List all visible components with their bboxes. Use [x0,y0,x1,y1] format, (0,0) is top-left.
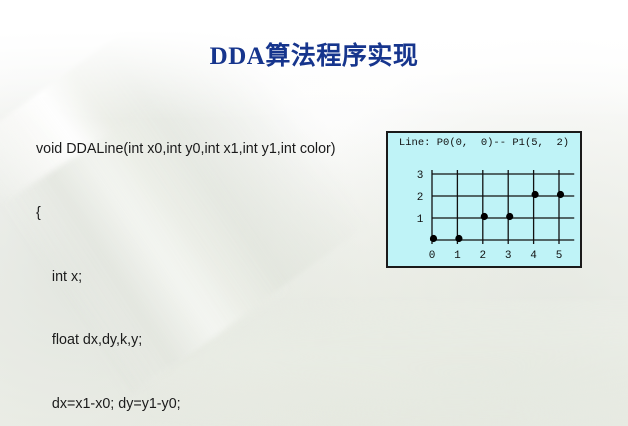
x-axis-tick-label: 1 [454,250,461,262]
line-plot-panel: Line: P0(0, 0)-- P1(5, 2) 123012345 [386,131,582,268]
y-axis-tick-label: 2 [417,192,424,204]
x-axis-tick-label: 4 [530,250,537,262]
x-axis-tick-label: 3 [505,250,512,262]
slide-canvas: DDA算法程序实现 void DDALine(int x0,int y0,int… [0,0,628,426]
code-line: float dx,dy,k,y; [36,330,336,351]
y-axis-tick-label: 1 [417,214,424,226]
data-point [532,191,539,198]
data-point [455,235,462,242]
x-axis-tick-label: 5 [556,250,563,262]
data-point [430,235,437,242]
code-line: { [36,203,336,224]
y-axis-tick-label: 3 [417,170,424,182]
data-point [557,191,564,198]
data-point [506,213,513,220]
data-point [481,213,488,220]
code-line: dx=x1-x0; dy=y1-y0; [36,394,336,415]
code-line: void DDALine(int x0,int y0,int x1,int y1… [36,139,336,160]
code-line: int x; [36,267,336,288]
x-axis-tick-label: 2 [479,250,486,262]
code-listing: void DDALine(int x0,int y0,int x1,int y1… [36,97,336,426]
scatter-plot-svg: 123012345 [388,133,580,266]
chart-plot-area: 123012345 [388,133,580,266]
x-axis-tick-label: 0 [429,250,436,262]
page-title: DDA算法程序实现 [0,36,628,72]
